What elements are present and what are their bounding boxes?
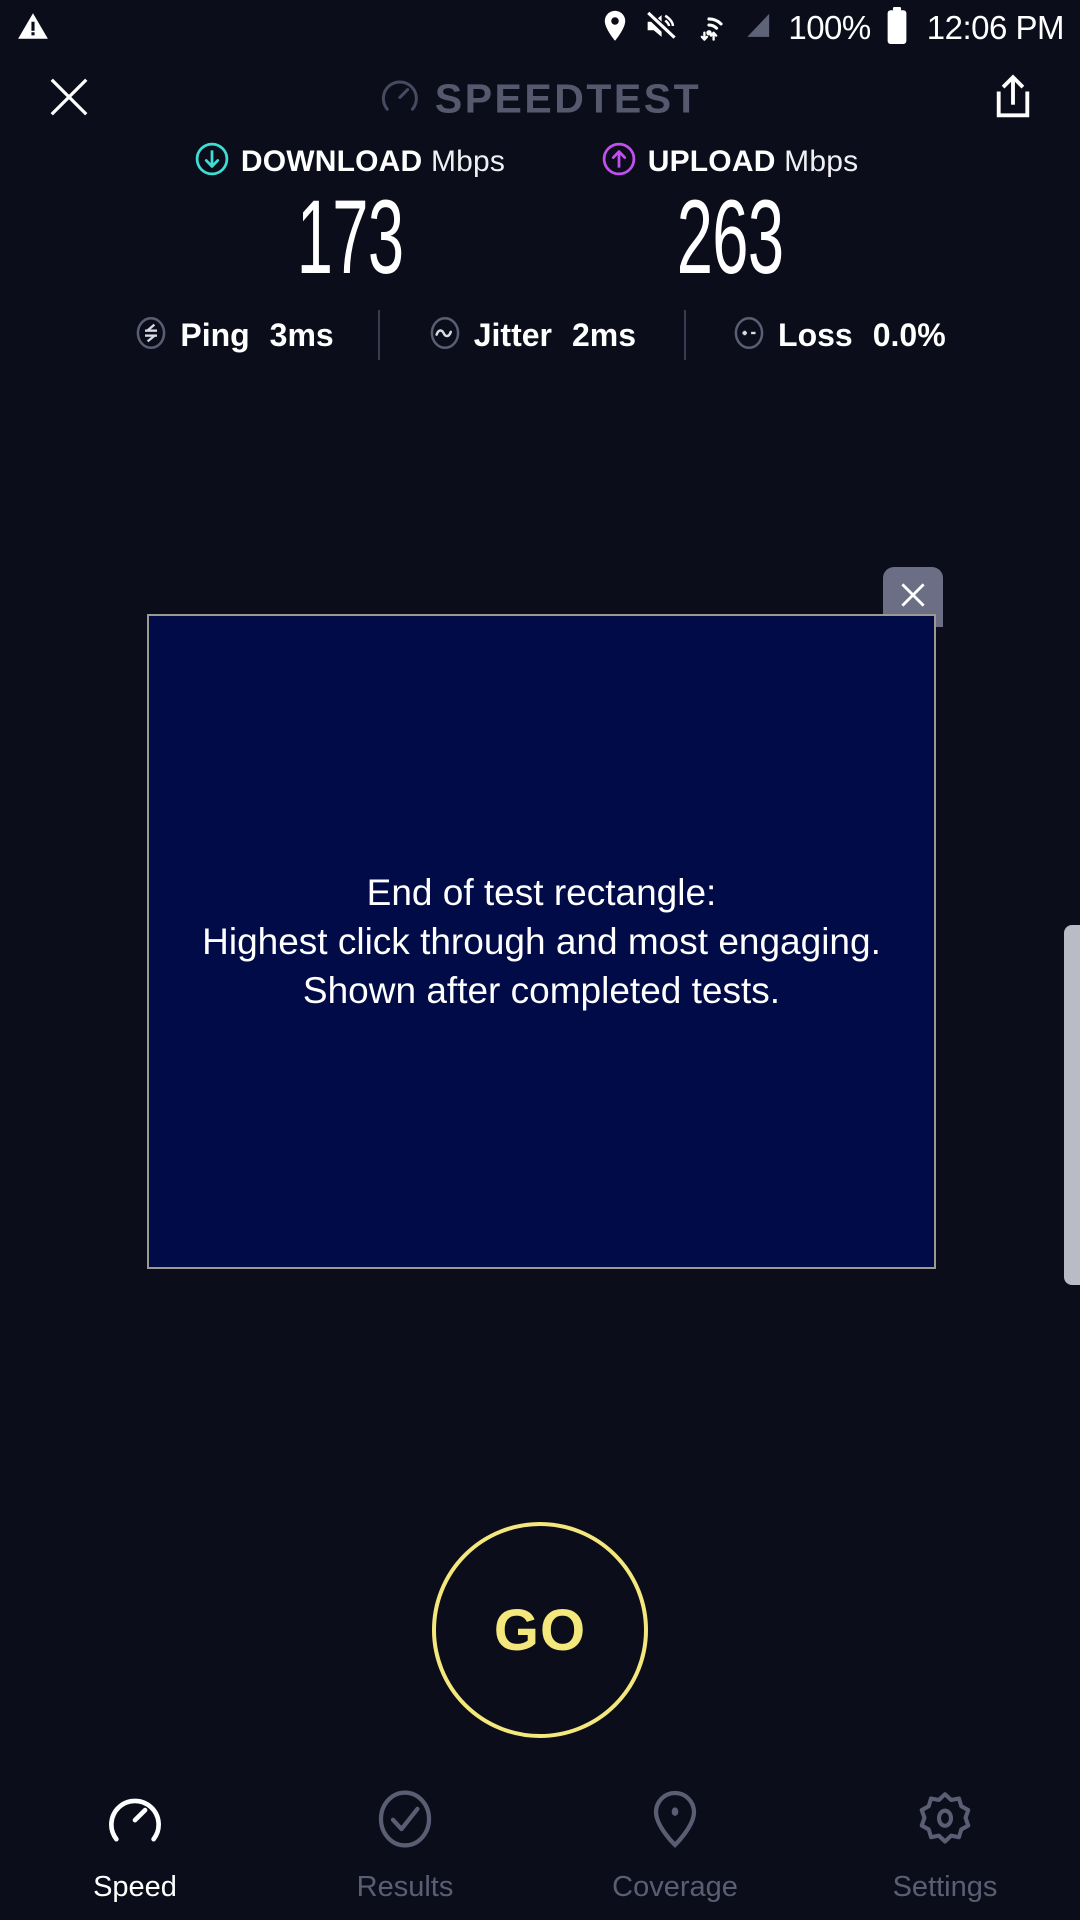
loss-icon [732, 316, 766, 355]
metric-divider [378, 310, 380, 360]
metric-loss-label: Loss [778, 317, 853, 354]
nav-item-results[interactable]: Results [270, 1788, 540, 1904]
bottom-navigation: Speed Results Coverage [0, 1780, 1080, 1920]
metric-ping: Ping 3ms [124, 316, 343, 355]
metric-ping-label: Ping [180, 317, 249, 354]
upload-label: UPLOAD Mbps [648, 145, 859, 179]
metric-loss: Loss 0.0% [722, 316, 956, 355]
metric-jitter: Jitter 2ms [418, 316, 646, 355]
share-icon [991, 73, 1035, 126]
nav-item-coverage[interactable]: Coverage [540, 1788, 810, 1904]
download-label: DOWNLOAD Mbps [241, 145, 505, 179]
nav-label-settings: Settings [893, 1871, 998, 1904]
cellular-signal-icon [740, 9, 774, 48]
nav-label-results: Results [357, 1871, 454, 1904]
nav-label-speed: Speed [93, 1871, 177, 1904]
speedtest-app-screen: 100% 12:06 PM [0, 0, 1080, 1920]
status-bar-left [16, 9, 50, 48]
upload-result: UPLOAD Mbps 263 [540, 142, 920, 293]
download-result: DOWNLOAD Mbps 173 [160, 142, 540, 293]
nav-item-speed[interactable]: Speed [0, 1788, 270, 1904]
app-header: SPEEDTEST [0, 56, 1080, 142]
gear-icon [914, 1788, 976, 1855]
scrollbar-thumb[interactable] [1064, 925, 1080, 1285]
upload-value: 263 [677, 183, 784, 293]
metric-loss-value: 0.0% [873, 317, 946, 354]
mute-icon [644, 9, 678, 48]
status-bar: 100% 12:06 PM [0, 0, 1080, 56]
nav-label-coverage: Coverage [612, 1871, 738, 1904]
results-summary: DOWNLOAD Mbps 173 UPLOAD Mbps 263 [0, 142, 1080, 293]
metric-jitter-value: 2ms [572, 317, 636, 354]
battery-full-icon [885, 7, 909, 50]
ad-line-3: Shown after completed tests. [202, 966, 881, 1015]
warning-triangle-icon [16, 9, 50, 48]
ad-line-1: End of test rectangle: [202, 868, 881, 917]
speedometer-logo-icon [379, 76, 421, 123]
share-button[interactable] [982, 68, 1044, 130]
close-icon [896, 578, 930, 617]
metrics-row: Ping 3ms Jitter 2ms [0, 300, 1080, 370]
wifi-icon [692, 9, 726, 48]
ping-icon [134, 316, 168, 355]
download-arrow-icon [195, 142, 229, 181]
nav-item-settings[interactable]: Settings [810, 1788, 1080, 1904]
go-button[interactable]: GO [432, 1522, 648, 1738]
location-pin-icon [644, 1788, 706, 1855]
results-row: DOWNLOAD Mbps 173 UPLOAD Mbps 263 [0, 142, 1080, 293]
jitter-icon [428, 316, 462, 355]
clock-label: 12:06 PM [927, 9, 1064, 47]
metric-divider [684, 310, 686, 360]
check-circle-icon [374, 1788, 436, 1855]
brand-logo: SPEEDTEST [379, 76, 701, 123]
go-button-label: GO [494, 1597, 586, 1664]
advertisement-banner[interactable]: End of test rectangle: Highest click thr… [147, 614, 936, 1269]
download-value: 173 [297, 183, 404, 293]
upload-arrow-icon [602, 142, 636, 181]
metric-ping-value: 3ms [270, 317, 334, 354]
close-icon [46, 74, 92, 125]
close-button[interactable] [38, 68, 100, 130]
brand-name: SPEEDTEST [435, 76, 701, 123]
speedometer-icon [104, 1788, 166, 1855]
download-label-group: DOWNLOAD Mbps [195, 142, 505, 181]
metric-jitter-label: Jitter [474, 317, 552, 354]
ad-line-2: Highest click through and most engaging. [202, 917, 881, 966]
status-bar-right: 100% 12:06 PM [600, 7, 1064, 50]
ad-text: End of test rectangle: Highest click thr… [202, 868, 881, 1016]
location-pin-icon [600, 9, 630, 48]
battery-percent-label: 100% [788, 9, 870, 47]
upload-label-group: UPLOAD Mbps [602, 142, 859, 181]
